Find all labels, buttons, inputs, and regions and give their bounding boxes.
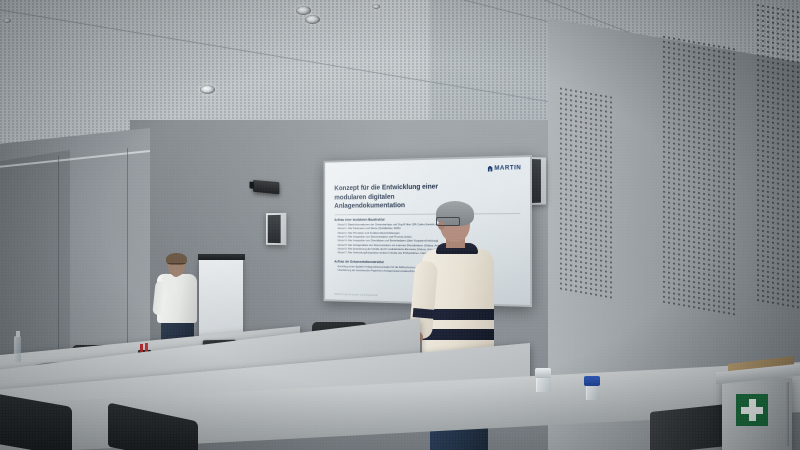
dark-equipment-case (650, 404, 728, 450)
person-hand (172, 269, 180, 277)
recessed-downlight-icon (372, 4, 380, 9)
projector-icon (253, 180, 279, 194)
slide-footer: MARTIN GmbH für Umwelt- und Energietechn… (334, 293, 377, 297)
cabinet-hinge (786, 382, 789, 446)
conference-room-photo: MARTIN Konzept für die Entwicklung einer… (0, 0, 800, 450)
wall-seam (58, 156, 59, 356)
speaker-icon (266, 213, 286, 245)
sweater-stripe (422, 329, 494, 340)
bottle-icon (14, 336, 21, 362)
first-aid-cross-icon (736, 394, 768, 426)
bottle-cap (535, 368, 552, 378)
bottle-icon (522, 368, 564, 450)
eyeglasses-icon (168, 263, 185, 268)
first-aid-cabinet (722, 378, 792, 450)
bottle-icon (572, 376, 612, 450)
martin-logo: MARTIN (488, 164, 522, 172)
recessed-downlight-icon (296, 6, 311, 15)
recessed-downlight-icon (3, 18, 11, 23)
bottle-neck (586, 384, 600, 400)
brand-name: MARTIN (494, 164, 521, 172)
recessed-downlight-icon (305, 15, 320, 24)
cross-glyph (741, 399, 763, 421)
speaker-grill (268, 215, 281, 243)
bottle-cap (584, 376, 600, 386)
wall-seam (127, 148, 128, 358)
martin-logo-icon (488, 165, 493, 171)
eyeglasses-icon (436, 217, 460, 226)
bottle-neck (536, 376, 550, 392)
recessed-downlight-icon (200, 85, 215, 94)
